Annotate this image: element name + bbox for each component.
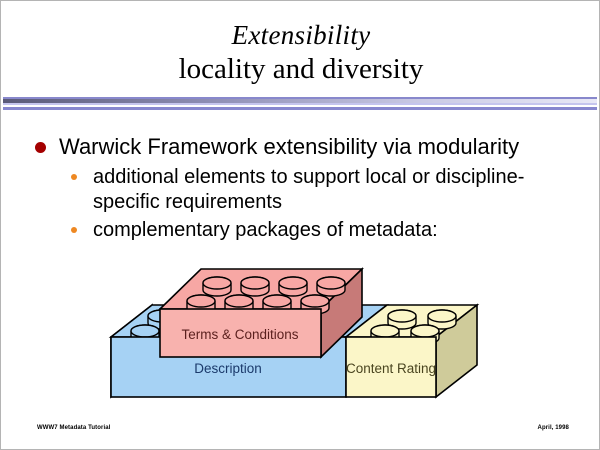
footer-right-text: April, 1998 bbox=[538, 425, 569, 431]
bullet-dot-icon bbox=[71, 227, 77, 233]
bullet-dot-icon bbox=[71, 174, 77, 180]
bullet-item-label: Warwick Framework extensibility via modu… bbox=[59, 134, 519, 159]
title-line-primary: Extensibility bbox=[1, 19, 600, 51]
lego-brick-svg: Description Content Rating bbox=[97, 263, 497, 411]
bullet-item-level1: Warwick Framework extensibility via modu… bbox=[31, 133, 576, 161]
bullet-list: Warwick Framework extensibility via modu… bbox=[31, 133, 576, 243]
bullet-disc-icon bbox=[35, 142, 46, 153]
title-divider-rule bbox=[3, 97, 597, 110]
bullet-item-level2: additional elements to support local or … bbox=[31, 165, 576, 215]
brick-terms-and-conditions[interactable]: Terms & Conditions bbox=[160, 269, 362, 357]
bullet-item-level2: complementary packages of metadata: bbox=[31, 218, 576, 243]
lego-brick-diagram: Description Content Rating bbox=[97, 263, 497, 411]
divider-line-bottom bbox=[3, 107, 597, 110]
brick-terms-label: Terms & Conditions bbox=[181, 327, 298, 342]
bullet-item-label: additional elements to support local or … bbox=[93, 166, 524, 213]
slide-canvas: Extensibility locality and diversity War… bbox=[0, 0, 600, 450]
footer-left-text: WWW7 Metadata Tutorial bbox=[37, 425, 110, 431]
page-title: Extensibility locality and diversity bbox=[1, 19, 600, 87]
title-line-secondary: locality and diversity bbox=[1, 51, 600, 87]
brick-content-rating-label: Content Rating bbox=[346, 361, 436, 376]
bullet-item-label: complementary packages of metadata: bbox=[93, 219, 438, 241]
brick-description-label: Description bbox=[194, 361, 262, 376]
